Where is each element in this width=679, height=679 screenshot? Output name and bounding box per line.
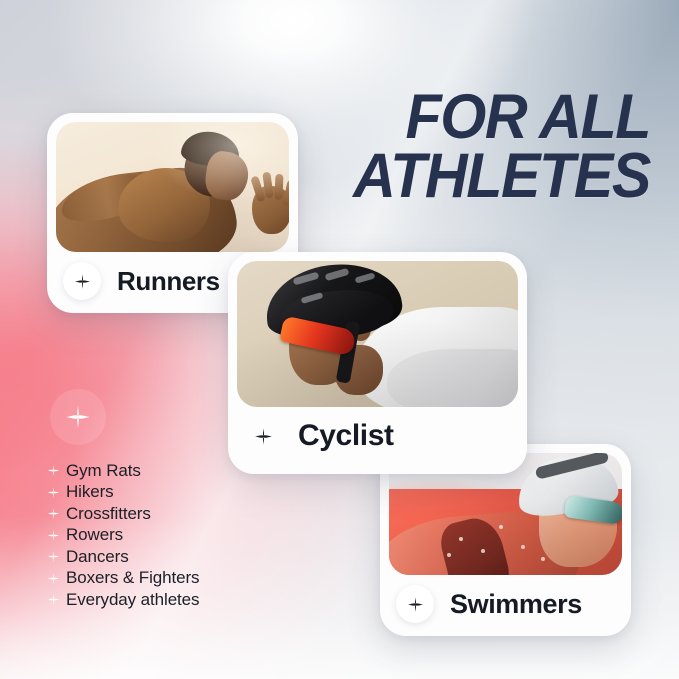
athlete-types-list: Gym Rats Hikers Crossfitters — [44, 460, 199, 611]
sparkle-plus-icon — [44, 464, 62, 477]
cyclist-photo — [237, 261, 518, 407]
list-item-label: Boxers & Fighters — [66, 568, 199, 588]
page-title-line-2: ATHLETES — [349, 147, 650, 206]
list-item-label: Crossfitters — [66, 504, 151, 524]
sparkle-plus-icon — [44, 507, 62, 520]
sparkle-plus-icon — [44, 572, 62, 585]
list-item: Hikers — [44, 482, 199, 504]
runners-photo — [56, 122, 289, 252]
poster-canvas: FOR ALL ATHLETES — [0, 0, 679, 679]
sparkle-plus-icon — [396, 585, 434, 623]
list-item: Boxers & Fighters — [44, 568, 199, 590]
list-item: Rowers — [44, 525, 199, 547]
sparkle-plus-icon — [44, 486, 62, 499]
list-item: Crossfitters — [44, 503, 199, 525]
sparkle-plus-icon — [44, 550, 62, 563]
runners-label: Runners — [117, 266, 220, 297]
sparkle-plus-icon — [44, 529, 62, 542]
sparkle-plus-icon — [44, 593, 62, 606]
sparkle-plus-icon — [50, 389, 106, 445]
sparkle-plus-icon — [244, 417, 282, 455]
cyclist-label: Cyclist — [298, 419, 394, 453]
page-title: FOR ALL ATHLETES — [349, 88, 650, 205]
cyclist-label-row: Cyclist — [228, 407, 527, 465]
swimmers-label: Swimmers — [450, 589, 582, 620]
list-item-label: Rowers — [66, 525, 123, 545]
list-item-label: Gym Rats — [66, 461, 141, 481]
list-item: Dancers — [44, 546, 199, 568]
list-item-label: Hikers — [66, 482, 114, 502]
list-item-label: Everyday athletes — [66, 590, 199, 610]
sparkle-plus-icon — [63, 262, 101, 300]
list-item: Gym Rats — [44, 460, 199, 482]
card-cyclist[interactable]: Cyclist — [228, 252, 527, 474]
swimmers-label-row: Swimmers — [380, 575, 631, 633]
list-item-label: Dancers — [66, 547, 129, 567]
list-item: Everyday athletes — [44, 589, 199, 611]
